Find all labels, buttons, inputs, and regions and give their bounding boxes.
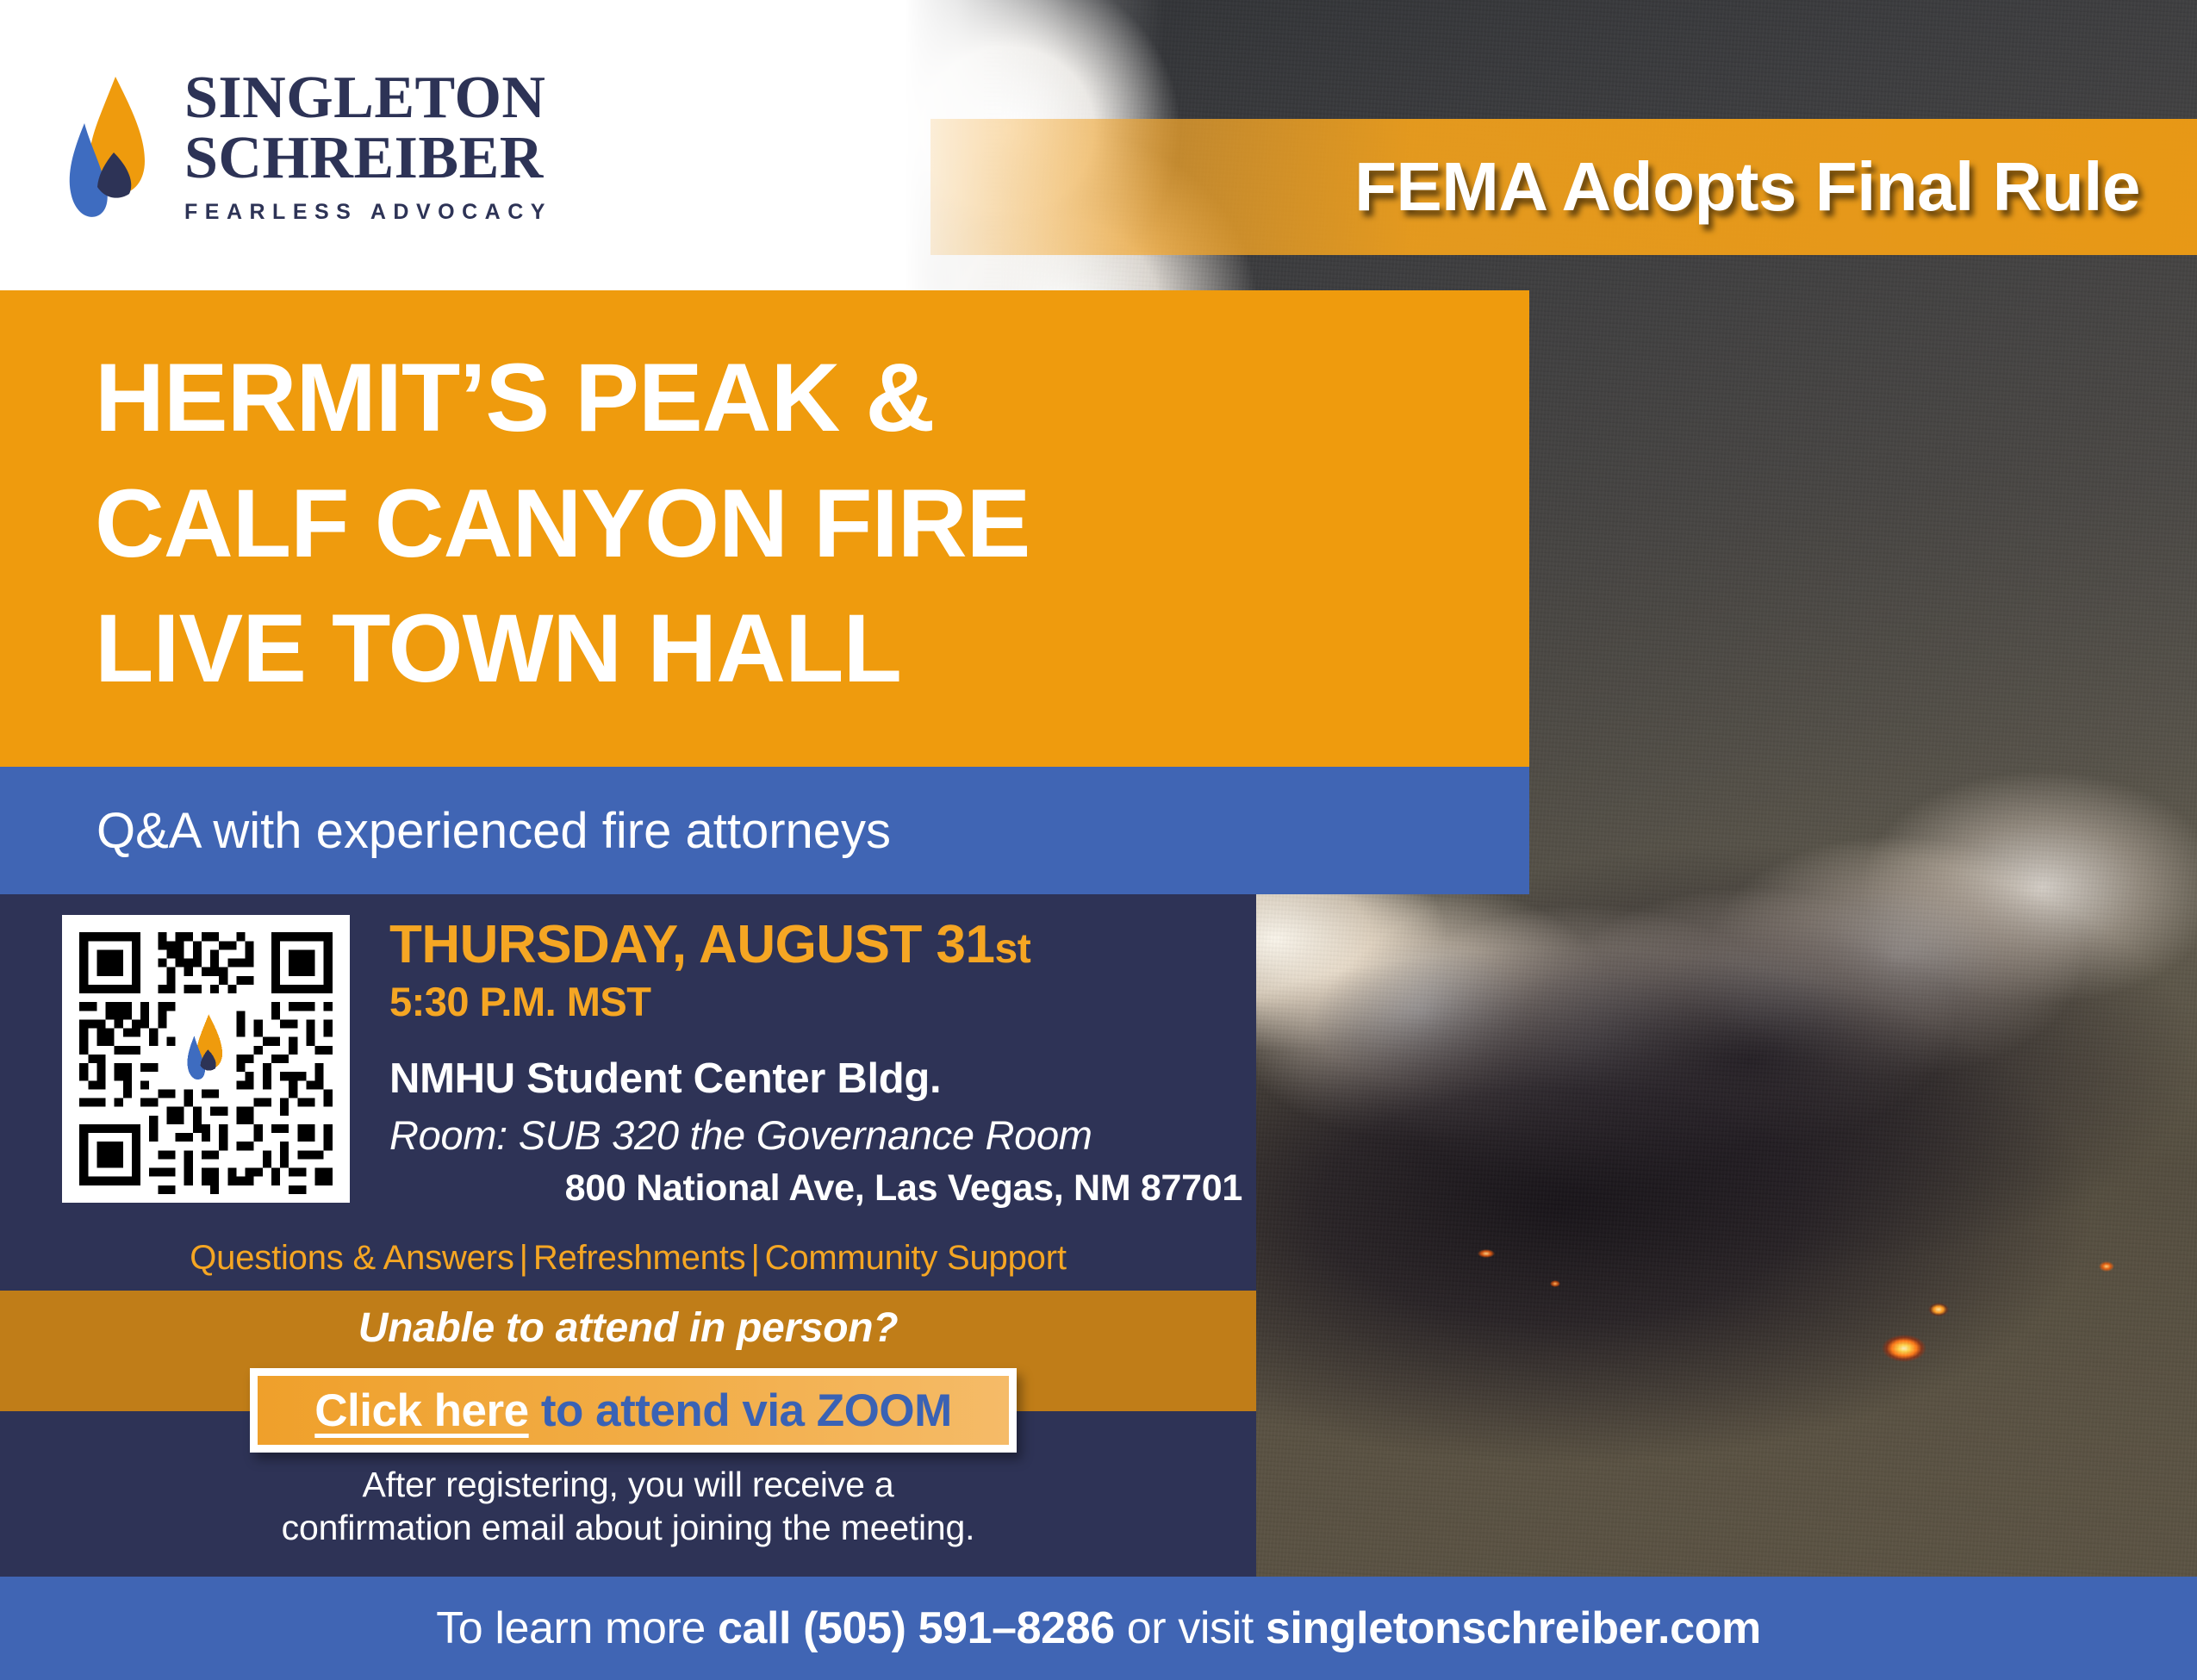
poster-canvas: SINGLETON SCHREIBER FEARLESS ADVOCACY FE… bbox=[0, 0, 2197, 1680]
event-subtitle-band: Q&A with experienced fire attorneys bbox=[0, 767, 1529, 894]
brand-name-line2: SCHREIBER bbox=[184, 128, 552, 188]
registration-note-line-1: After registering, you will receive a bbox=[0, 1463, 1256, 1506]
event-subtitle-text: Q&A with experienced fire attorneys bbox=[96, 802, 891, 860]
event-title-block: HERMIT’S PEAK & CALF CANYON FIRE LIVE TO… bbox=[0, 290, 1529, 767]
event-detail-column: THURSDAY, AUGUST 31st 5:30 P.M. MST NMHU… bbox=[389, 917, 1242, 1210]
fema-ribbon-label: FEMA Adopts Final Rule bbox=[1354, 147, 2197, 227]
event-time: 5:30 P.M. MST bbox=[389, 978, 1242, 1025]
zoom-cta-button[interactable]: Click here to attend via ZOOM bbox=[250, 1368, 1017, 1453]
event-perks-list: Questions & Answers|Refreshments|Communi… bbox=[0, 1239, 1256, 1278]
remote-attend-prompt: Unable to attend in person? bbox=[358, 1304, 899, 1352]
footer-contact-band: To learn more call (505) 591–8286 or vis… bbox=[0, 1577, 2197, 1680]
zoom-cta-button-face[interactable]: Click here to attend via ZOOM bbox=[258, 1376, 1009, 1445]
fema-announcement-ribbon: FEMA Adopts Final Rule bbox=[930, 119, 2197, 255]
event-perk-1: Refreshments bbox=[533, 1239, 746, 1277]
perk-separator-2: | bbox=[745, 1239, 764, 1277]
brand-wordmark: SINGLETON SCHREIBER FEARLESS ADVOCACY bbox=[184, 68, 552, 225]
brand-tagline: FEARLESS ADVOCACY bbox=[184, 200, 552, 225]
zoom-cta-link-text[interactable]: Click here bbox=[314, 1385, 528, 1436]
footer-middle: or visit bbox=[1115, 1603, 1266, 1653]
registration-note-line-2: confirmation email about joining the mee… bbox=[0, 1506, 1256, 1549]
event-date: THURSDAY, AUGUST 31st bbox=[389, 917, 1242, 973]
brand-name-line1: SINGLETON bbox=[184, 68, 552, 128]
perk-separator-1: | bbox=[514, 1239, 533, 1277]
flame-logo-icon bbox=[55, 73, 159, 220]
qr-code[interactable] bbox=[62, 915, 350, 1203]
registration-note: After registering, you will receive a co… bbox=[0, 1463, 1256, 1549]
event-address: 800 National Ave, Las Vegas, NM 87701 bbox=[389, 1167, 1242, 1210]
event-venue: NMHU Student Center Bldg. bbox=[389, 1055, 1242, 1103]
event-perk-0: Questions & Answers bbox=[190, 1239, 513, 1277]
event-title-line-1: HERMIT’S PEAK & bbox=[95, 335, 1478, 461]
event-details-panel: THURSDAY, AUGUST 31st 5:30 P.M. MST NMHU… bbox=[0, 894, 1256, 1291]
footer-website[interactable]: singletonschreiber.com bbox=[1266, 1603, 1761, 1653]
event-title-line-2: CALF CANYON FIRE bbox=[95, 461, 1478, 587]
footer-contact-text: To learn more call (505) 591–8286 or vis… bbox=[436, 1602, 1761, 1654]
event-date-suffix: st bbox=[995, 926, 1031, 972]
zoom-cta-rest-text: to attend via ZOOM bbox=[529, 1385, 952, 1436]
footer-lead: To learn more bbox=[436, 1603, 718, 1653]
event-title-line-3: LIVE TOWN HALL bbox=[95, 586, 1478, 712]
event-perk-2: Community Support bbox=[765, 1239, 1067, 1277]
zoom-cta-label: Click here to attend via ZOOM bbox=[314, 1384, 951, 1437]
event-date-main: THURSDAY, AUGUST 31 bbox=[389, 915, 995, 974]
event-room: Room: SUB 320 the Governance Room bbox=[389, 1111, 1242, 1159]
footer-phone[interactable]: call (505) 591–8286 bbox=[718, 1603, 1115, 1653]
brand-logo-panel: SINGLETON SCHREIBER FEARLESS ADVOCACY bbox=[0, 0, 926, 293]
